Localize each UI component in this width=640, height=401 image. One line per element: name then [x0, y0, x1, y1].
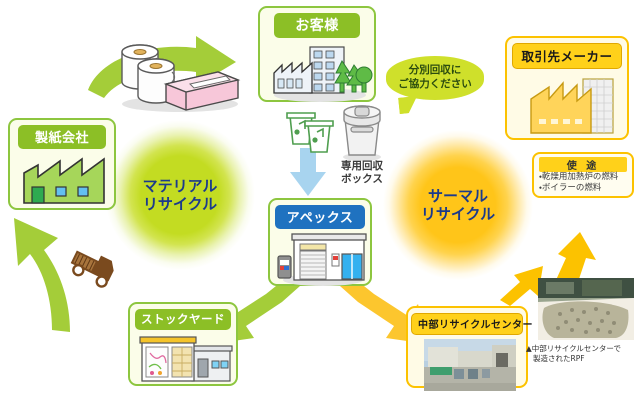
- bubble-line1: 分別回収に: [409, 64, 462, 78]
- usage-item-0: ・乾燥用加熱炉の燃料: [539, 172, 627, 183]
- paper-rolls-icon: [108, 22, 243, 114]
- arrow-rpf-to-usage: [556, 232, 596, 282]
- arrow-chubu-to-maker: [500, 266, 543, 306]
- apex-store-icon: [278, 232, 368, 286]
- collection-box-label: 専用回収 ボックス: [328, 160, 396, 186]
- waste-bins-icon: [286, 110, 342, 156]
- usage-title: 使 途: [539, 157, 627, 172]
- rpf-caption-line2: 製造されたRPF: [526, 354, 640, 364]
- partner-factory-icon: [527, 73, 619, 139]
- rpf-photo-caption: ▲中部リサイクルセンターで 製造されたRPF: [526, 344, 640, 364]
- node-chubu-center-label: 中部リサイクルセンター: [411, 313, 523, 335]
- node-paper-company-label: 製紙会社: [18, 125, 106, 149]
- rpf-caption-line1: ▲中部リサイクルセンターで: [526, 344, 640, 354]
- trees-icon: [335, 61, 372, 92]
- node-partner-maker[interactable]: 取引先メーカー: [505, 36, 629, 140]
- node-paper-company[interactable]: 製紙会社: [8, 118, 116, 210]
- rpf-photo: [538, 278, 634, 340]
- node-customer-label: お客様: [274, 13, 360, 38]
- chubu-center-photo: [424, 339, 516, 391]
- collection-bin-icon: [338, 105, 386, 161]
- bubble-line2: ご協力ください: [398, 78, 472, 92]
- node-customer[interactable]: お客様: [258, 6, 376, 102]
- collection-box-line1: 専用回収: [328, 160, 396, 173]
- node-stock-yard-label: ストックヤード: [135, 309, 231, 330]
- recycling-flow-diagram: マテリアル リサイクル サーマル リサイクル: [0, 0, 640, 401]
- collection-box-line2: ボックス: [328, 173, 396, 186]
- customer-scene-icon: [268, 41, 372, 103]
- node-partner-maker-label: 取引先メーカー: [512, 43, 622, 69]
- factory-icon: [274, 63, 312, 93]
- arrow-stockyard-to-paper: [14, 218, 70, 332]
- separation-request-bubble: 分別回収に ご協力ください: [386, 56, 484, 100]
- paper-factory-icon: [20, 155, 110, 207]
- node-apex-label: アペックス: [275, 205, 365, 229]
- node-apex[interactable]: アペックス: [268, 198, 372, 286]
- usage-box: 使 途 ・乾燥用加熱炉の燃料 ・ボイラーの燃料: [532, 152, 634, 198]
- usage-item-1: ・ボイラーの燃料: [539, 183, 627, 194]
- node-chubu-center[interactable]: 中部リサイクルセンター: [406, 306, 528, 388]
- stockyard-warehouse-icon: [138, 333, 234, 383]
- node-stock-yard[interactable]: ストックヤード: [128, 302, 238, 386]
- truck-icon: [66, 248, 122, 292]
